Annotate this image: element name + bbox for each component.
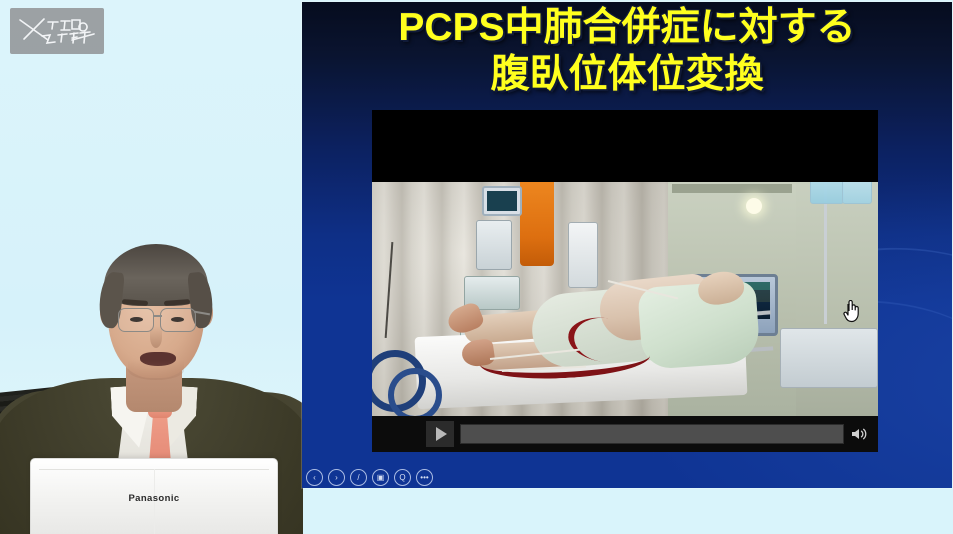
equipment-rack [780,328,878,388]
embedded-video-object[interactable] [372,110,878,452]
volume-icon [850,427,868,441]
seminar-logo [10,8,104,54]
orange-equipment-bag [520,170,554,266]
chevron-left-icon: ‹ [313,474,316,482]
next-slide-button[interactable]: › [328,469,345,486]
slide-title-line-1: PCPS中肺合併症に対する [302,4,952,51]
infusion-pump-4 [568,222,598,288]
eyeglasses-bridge [153,315,162,317]
screen: Panasonic [0,0,953,534]
syringe-pump-display [482,186,522,216]
zoom-in-button[interactable]: Q [394,469,411,486]
equipment-shelf [672,184,792,193]
seminar-logo-icon [14,12,100,50]
eyeglasses-lens-left [118,308,154,332]
slide-title-line-2: 腹臥位体位変換 [302,51,952,98]
pen-tool-button[interactable]: / [350,469,367,486]
chevron-right-icon: › [335,474,338,482]
grid-slides-icon: ▣ [377,474,385,482]
pcps-circuit-loop-2 [388,368,442,416]
ellipsis-icon: ••• [420,474,428,482]
chin [128,360,184,380]
video-letterbox-top [372,146,878,182]
nose [150,326,162,348]
play-button[interactable] [426,421,454,447]
more-options-button[interactable]: ••• [416,469,433,486]
magnifier-icon: Q [399,474,405,482]
slide-title: PCPS中肺合併症に対する 腹臥位体位変換 [302,4,952,98]
laptop-lid: Panasonic [30,458,278,534]
laptop-brand-label: Panasonic [31,493,277,504]
video-frame[interactable] [372,146,878,416]
play-icon [436,427,447,441]
previous-slide-button[interactable]: ‹ [306,469,323,486]
pen-icon: / [357,474,359,482]
media-control-bar[interactable] [372,416,878,452]
slideshow-toolbar[interactable]: ‹ › / ▣ Q ••• [306,469,433,486]
exam-lamp [746,198,762,214]
eyeglasses-lens-right [160,308,196,332]
volume-button[interactable] [846,421,872,447]
all-slides-button[interactable]: ▣ [372,469,389,486]
video-seek-bar[interactable] [460,424,844,444]
presenter-video-panel: Panasonic [0,0,303,534]
infusion-pump-1 [476,220,512,270]
presentation-slide[interactable]: PCPS中肺合併症に対する 腹臥位体位変換 [302,2,952,488]
